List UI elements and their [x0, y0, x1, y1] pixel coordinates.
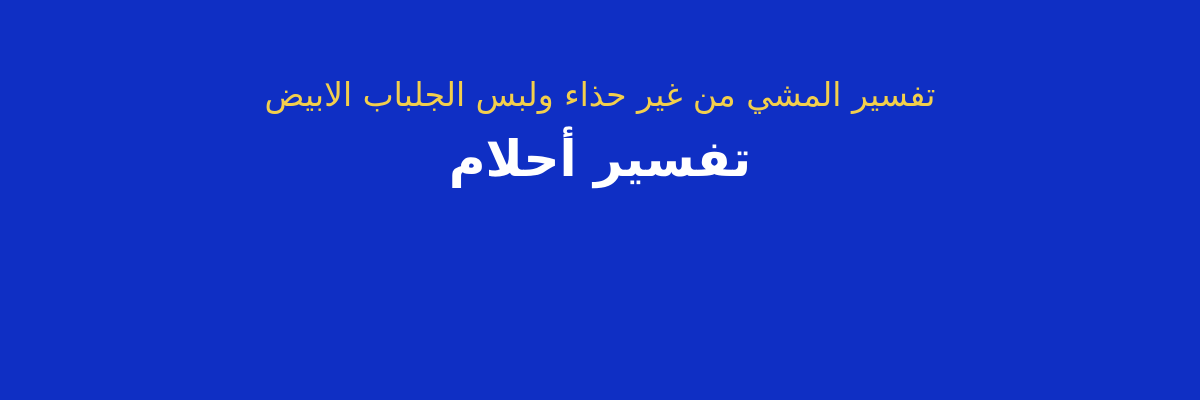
- empty-background-area: [0, 236, 1200, 400]
- headline-primary-text: تفسير المشي من غير حذاء ولبس الجلباب الا…: [0, 74, 1200, 116]
- banner-canvas: تفسير المشي من غير حذاء ولبس الجلباب الا…: [0, 0, 1200, 400]
- headline-block: تفسير المشي من غير حذاء ولبس الجلباب الا…: [0, 0, 1200, 189]
- headline-secondary-text: تفسير أحلام: [0, 130, 1200, 189]
